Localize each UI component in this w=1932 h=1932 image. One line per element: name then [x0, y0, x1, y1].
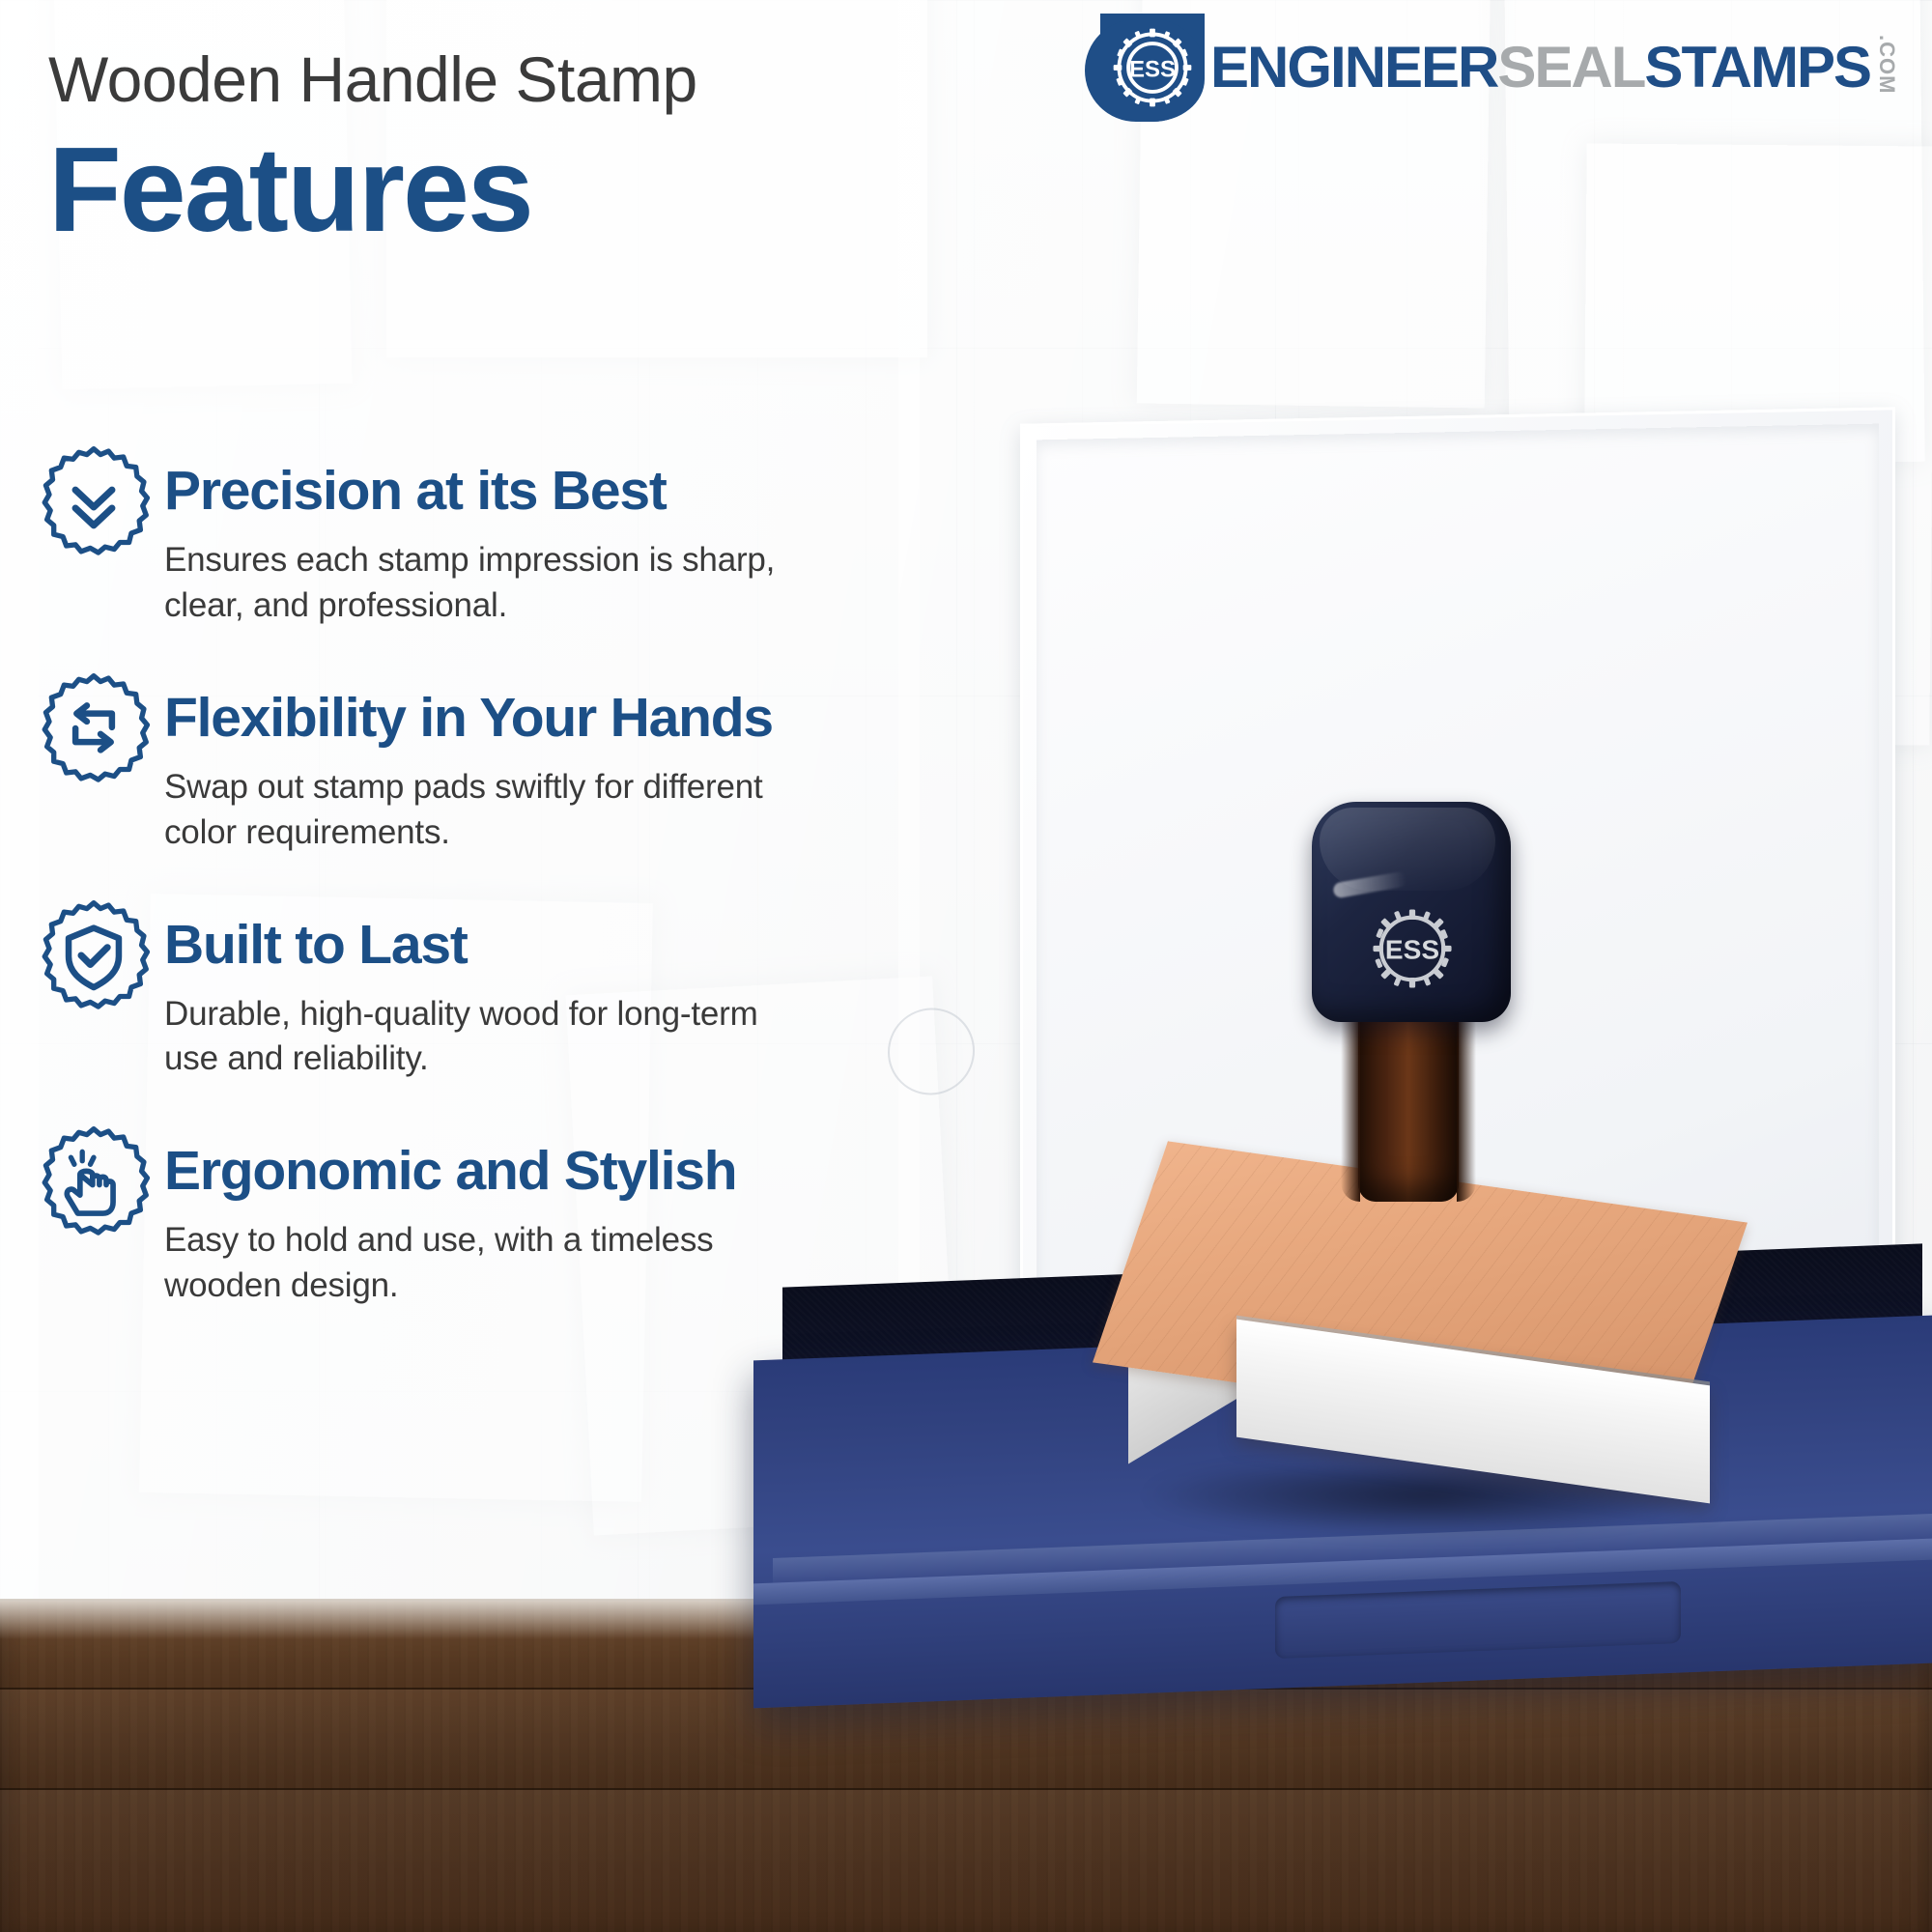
product-photo: ESS	[966, 415, 1932, 1671]
stamp-knob: ESS	[1312, 802, 1511, 1022]
feature-item: Precision at its Best Ensures each stamp…	[37, 452, 906, 629]
feature-title: Ergonomic and Stylish	[164, 1144, 906, 1199]
feature-description: Durable, high-quality wood for long-term…	[164, 992, 802, 1083]
infographic-canvas: Wooden Handle Stamp Features	[0, 0, 1932, 1932]
feature-text: Precision at its Best Ensures each stamp…	[164, 452, 906, 629]
feature-title: Built to Last	[164, 918, 906, 973]
wordmark-stamps: STAMPS	[1644, 39, 1870, 97]
brand-wordmark: ENGINEERSEALSTAMPS	[1210, 39, 1870, 97]
floor-plank	[0, 1788, 1932, 1932]
feature-item: Flexibility in Your Hands Swap out stamp…	[37, 679, 906, 856]
feature-description: Easy to hold and use, with a timeless wo…	[164, 1218, 802, 1309]
wordmark-tld: .COM	[1874, 35, 1899, 94]
feature-list: Precision at its Best Ensures each stamp…	[37, 452, 906, 1359]
wordmark-seal: SEAL	[1497, 39, 1644, 97]
badge-shield-check-icon	[37, 898, 151, 1012]
ess-mark-text: ESS	[1129, 57, 1176, 83]
feature-text: Flexibility in Your Hands Swap out stamp…	[164, 679, 906, 856]
badge-hand-tap-icon	[37, 1124, 151, 1238]
feature-item: Built to Last Durable, high-quality wood…	[37, 906, 906, 1083]
badge-double-chevron-down-icon	[37, 444, 151, 558]
page-title: Features	[48, 130, 697, 250]
badge-swap-arrows-icon	[37, 671, 151, 785]
feature-title: Precision at its Best	[164, 464, 906, 519]
wooden-handle-stamp: ESS	[1198, 802, 1739, 1671]
headline-subtitle: Wooden Handle Stamp	[48, 46, 697, 113]
brand-logo[interactable]: ESS ENGINEERSEALSTAMPS .COM	[1100, 14, 1899, 122]
feature-description: Swap out stamp pads swiftly for differen…	[164, 765, 802, 856]
page-headline: Wooden Handle Stamp Features	[48, 46, 697, 250]
feature-text: Ergonomic and Stylish Easy to hold and u…	[164, 1132, 906, 1309]
lid-emboss	[1788, 990, 1875, 1079]
wordmark-engineer: ENGINEER	[1210, 39, 1497, 97]
feature-text: Built to Last Durable, high-quality wood…	[164, 906, 906, 1083]
knob-ess-gear-icon: ESS	[1362, 898, 1463, 1004]
feature-title: Flexibility in Your Hands	[164, 691, 906, 746]
feature-item: Ergonomic and Stylish Easy to hold and u…	[37, 1132, 906, 1309]
stamp-wood-stem	[1358, 1009, 1459, 1202]
feature-description: Ensures each stamp impression is sharp, …	[164, 538, 802, 629]
ess-badge-icon: ESS	[1100, 14, 1205, 122]
knob-ess-text: ESS	[1385, 934, 1439, 964]
floor-plank	[0, 1688, 1932, 1790]
